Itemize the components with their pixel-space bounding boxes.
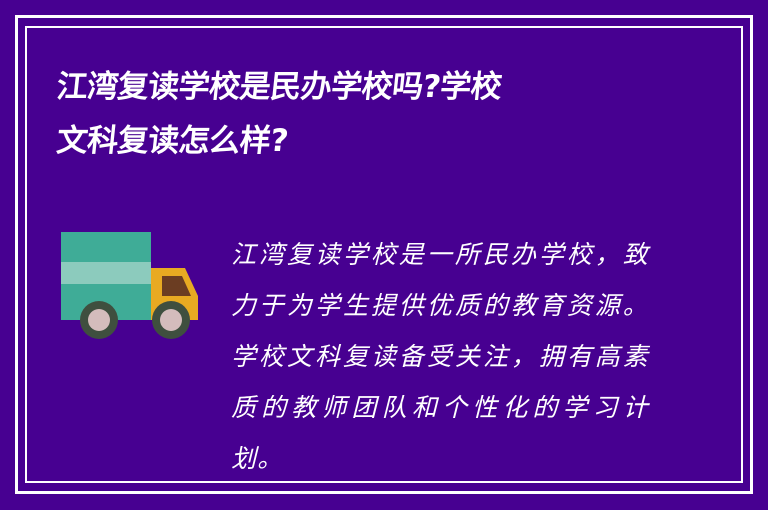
page-title-line-2: 文科复读怎么样? bbox=[54, 114, 660, 168]
delivery-truck-icon bbox=[58, 224, 204, 340]
page-title-line-1: 江湾复读学校是民办学校吗?学校 bbox=[54, 60, 660, 114]
body-paragraph: 江湾复读学校是一所民办学校，致力于为学生提供优质的教育资源。学校文科复读备受关注… bbox=[231, 229, 649, 484]
poster-canvas: 江湾复读学校是民办学校吗?学校 文科复读怎么样? 江湾复读学校是一 bbox=[0, 0, 768, 510]
content-row: 江湾复读学校是一所民办学校，致力于为学生提供优质的教育资源。学校文科复读备受关注… bbox=[0, 196, 768, 456]
page-title: 江湾复读学校是民办学校吗?学校 文科复读怎么样? bbox=[54, 60, 654, 168]
